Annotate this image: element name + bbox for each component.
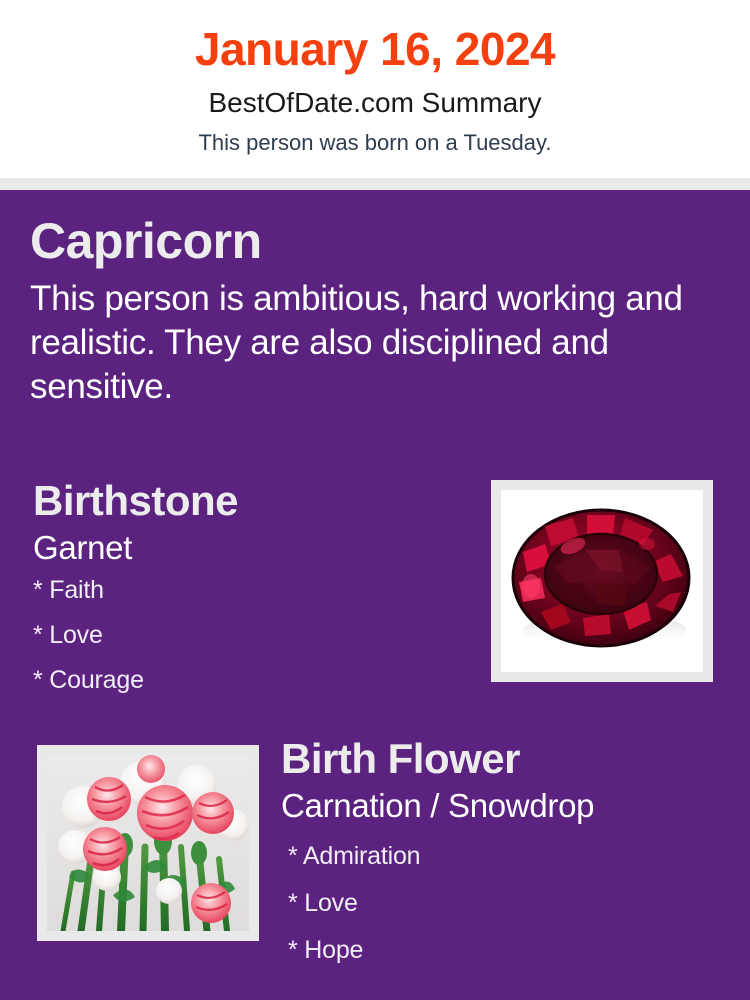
- list-item: * Hope: [288, 938, 731, 985]
- site-name: BestOfDate.com Summary: [0, 72, 750, 117]
- zodiac-section: Capricorn This person is ambitious, hard…: [30, 216, 690, 409]
- zodiac-description: This person is ambitious, hard working a…: [30, 266, 690, 409]
- carnation-bouquet-icon: [47, 755, 249, 931]
- list-item: * Love: [33, 623, 473, 668]
- birthstone-section: Birthstone Garnet * Faith * Love * Coura…: [33, 480, 473, 713]
- birthflower-trait-list: * Admiration * Love * Hope: [281, 822, 731, 985]
- birthstone-trait-list: * Faith * Love * Courage: [33, 564, 473, 713]
- page-title: January 16, 2024: [0, 0, 750, 72]
- page-header: January 16, 2024 BestOfDate.com Summary …: [0, 0, 750, 178]
- garnet-gemstone-icon: [501, 490, 703, 672]
- list-item: * Admiration: [288, 844, 731, 891]
- birthstone-image-frame: [491, 480, 713, 682]
- birthflower-name: Carnation / Snowdrop: [281, 780, 731, 822]
- list-item: * Courage: [33, 668, 473, 713]
- birthstone-name: Garnet: [33, 522, 473, 564]
- list-item: * Faith: [33, 578, 473, 623]
- birthflower-title: Birth Flower: [281, 738, 731, 780]
- birthstone-image: [501, 490, 703, 672]
- zodiac-sign-title: Capricorn: [30, 216, 690, 266]
- list-item: * Love: [288, 891, 731, 938]
- birthflower-image: [47, 755, 249, 931]
- birthflower-image-frame: [37, 745, 259, 941]
- birthflower-section: Birth Flower Carnation / Snowdrop * Admi…: [281, 738, 731, 985]
- birth-weekday-text: This person was born on a Tuesday.: [0, 117, 750, 154]
- summary-card: January 16, 2024 BestOfDate.com Summary …: [0, 0, 750, 1000]
- birthstone-title: Birthstone: [33, 480, 473, 522]
- header-divider: [0, 178, 750, 190]
